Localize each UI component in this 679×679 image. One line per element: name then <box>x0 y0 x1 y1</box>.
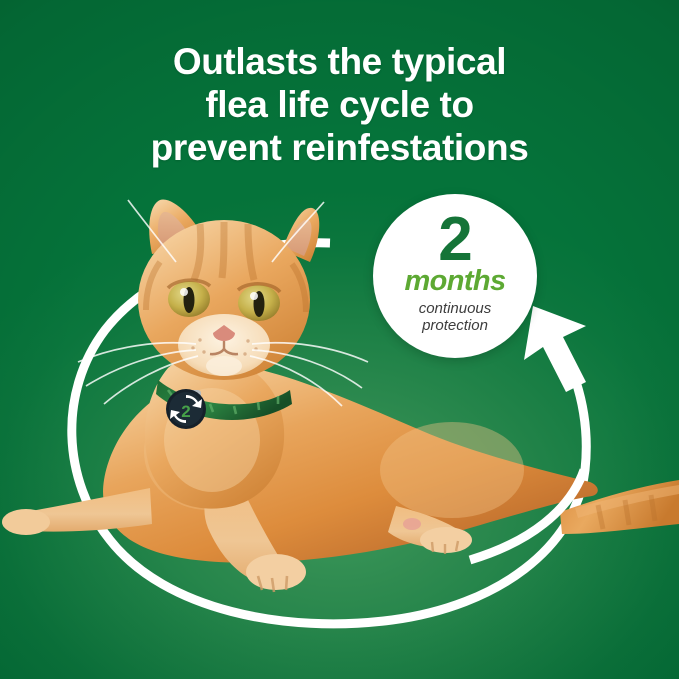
advertisement-canvas: Outlasts the typical flea life cycle to … <box>0 0 679 679</box>
badge-subtitle: continuous protection <box>419 301 492 335</box>
badge-number: 2 <box>438 213 471 266</box>
badge-unit-label: months <box>404 267 505 296</box>
months-badge: 2 months continuous protection <box>373 194 537 358</box>
cycle-arrow-ring-front <box>0 0 679 679</box>
cycle-arrow-arc-front <box>470 470 584 560</box>
